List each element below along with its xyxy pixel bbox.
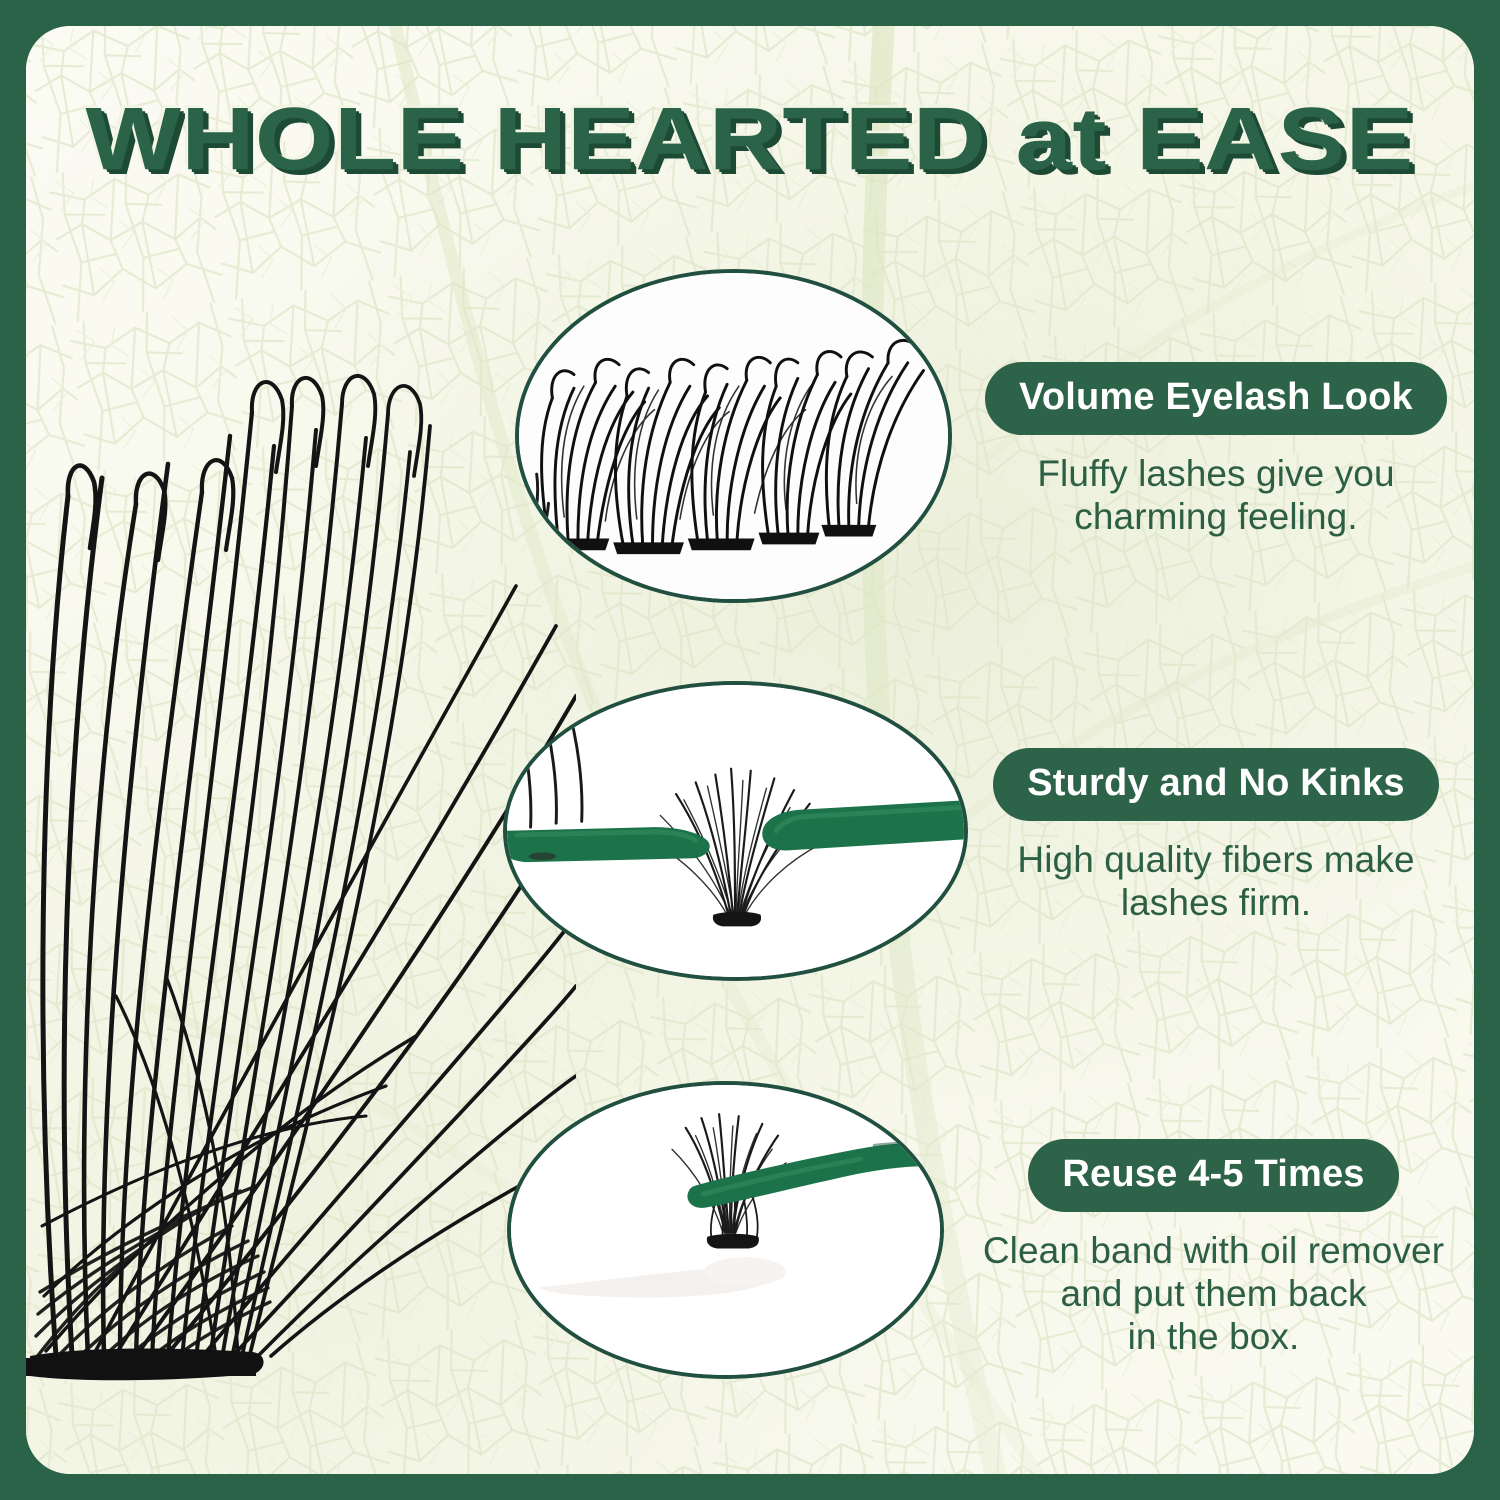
feature-description-1: Fluffy lashes give you charming feeling. bbox=[956, 453, 1474, 539]
page-title: WHOLE HEARTED at EASE bbox=[26, 88, 1474, 190]
feature-badge-sturdy-and-no-kinks: Sturdy and No Kinks bbox=[993, 748, 1439, 821]
feature-photo-sturdy-and-no-kinks bbox=[503, 681, 968, 981]
feature-desc-line: in the box. bbox=[941, 1316, 1474, 1359]
feature-desc-line: Fluffy lashes give you bbox=[956, 453, 1474, 496]
feature-desc-line: charming feeling. bbox=[956, 496, 1474, 539]
feature-description-2: High quality fibers make lashes firm. bbox=[956, 839, 1474, 925]
feature-block-3: Reuse 4-5 Times Clean band with oil remo… bbox=[941, 1139, 1474, 1359]
feature-desc-line: High quality fibers make bbox=[956, 839, 1474, 882]
poster-root: WHOLE HEARTED at EASE bbox=[0, 0, 1500, 1500]
feature-badge-volume-eyelash-look: Volume Eyelash Look bbox=[985, 362, 1447, 435]
feature-photo-volume-eyelash-look bbox=[515, 269, 952, 603]
feature-badge-reuse-4-5-times: Reuse 4-5 Times bbox=[1028, 1139, 1398, 1212]
feature-block-2: Sturdy and No Kinks High quality fibers … bbox=[956, 748, 1474, 925]
feature-block-1: Volume Eyelash Look Fluffy lashes give y… bbox=[956, 362, 1474, 539]
feature-desc-line: lashes firm. bbox=[956, 882, 1474, 925]
feature-desc-line: and put them back bbox=[941, 1273, 1474, 1316]
feature-desc-line: Clean band with oil remover bbox=[941, 1230, 1474, 1273]
feature-description-3: Clean band with oil remover and put them… bbox=[941, 1230, 1474, 1359]
feature-photo-reuse-4-5-times bbox=[507, 1081, 944, 1379]
infographic-card: WHOLE HEARTED at EASE bbox=[26, 26, 1474, 1474]
